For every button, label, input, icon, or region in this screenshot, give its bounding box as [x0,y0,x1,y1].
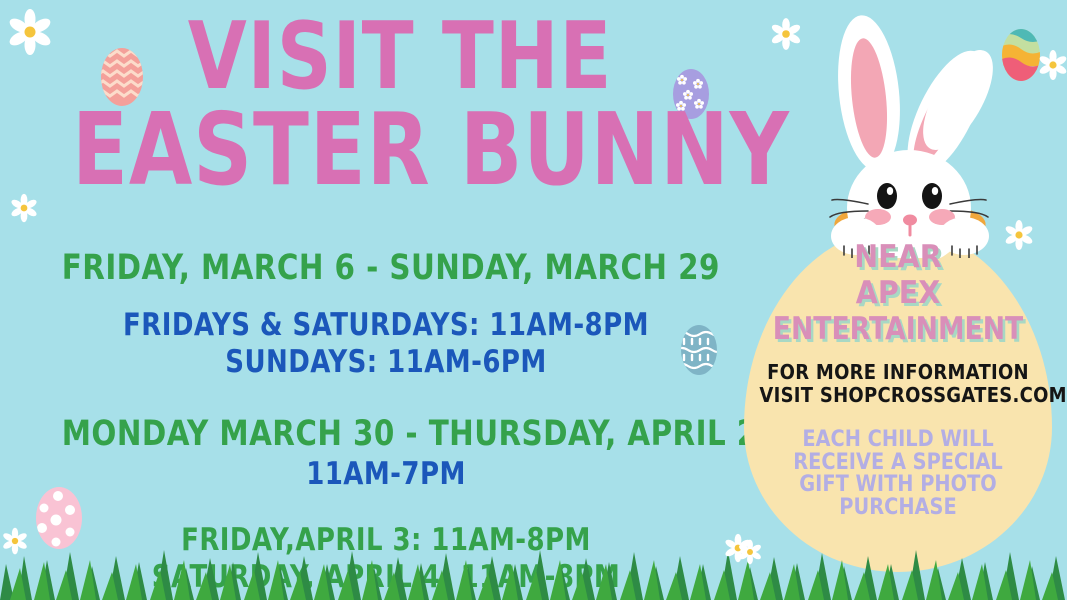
panel-heading-line-3: ENTERTAINMENT [766,314,1031,345]
title-line-2: EASTER BUNNY [72,104,728,196]
panel-gift-line-4: PURCHASE [762,497,1033,519]
easter-bunny-poster: VISIT THE EASTER BUNNY FRIDAY, MARCH 6 -… [0,0,1067,600]
panel-heading-line-1: NEAR [756,242,1039,273]
grass-border [0,538,1067,600]
schedule-line-dates-1: FRIDAY, MARCH 6 - SUNDAY, MARCH 29 [62,248,710,289]
daisy-flower [8,192,40,224]
egg-panel-content: NEAR APEX ENTERTAINMENT FOR MORE INFORMA… [744,228,1052,572]
poster-title: VISIT THE EASTER BUNNY [0,14,800,196]
panel-gift-line-1: EACH CHILD WILL [762,429,1033,451]
title-line-1: VISIT THE [72,14,728,100]
schedule-line-hours-3: 11AM-7PM [62,456,710,493]
schedule-line-dates-2: MONDAY MARCH 30 - THURSDAY, APRIL 2 [62,414,710,455]
easter-bunny-illustration [806,8,1026,258]
panel-info-line-1: FOR MORE INFORMATION [759,361,1036,384]
panel-gift-line-3: GIFT WITH PHOTO [762,474,1033,496]
panel-gift-line-2: RECEIVE A SPECIAL [762,452,1033,474]
panel-heading-line-2: APEX [756,278,1039,309]
daisy-flower [1036,48,1067,82]
schedule-line-hours-2: SUNDAYS: 11AM-6PM [62,344,710,381]
panel-info-line-2: VISIT SHOPCROSSGATES.COM [759,384,1036,407]
schedule-line-hours-1: FRIDAYS & SATURDAYS: 11AM-8PM [62,307,710,344]
